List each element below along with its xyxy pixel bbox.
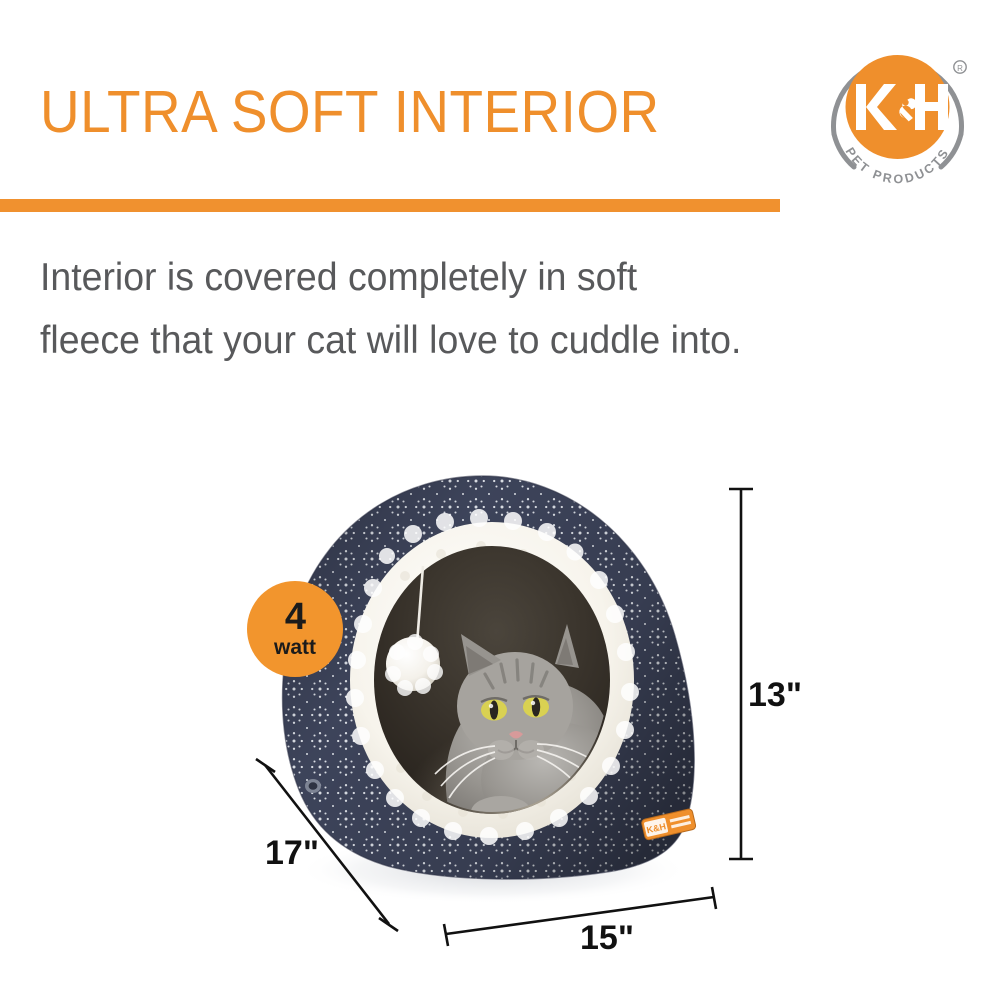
- page-title: ULTRA SOFT INTERIOR: [40, 78, 660, 146]
- height-dimension-label: 13": [748, 676, 802, 715]
- product-photo-cat-cave-bed: K&H: [255, 468, 725, 908]
- wattage-badge: 4 watt: [247, 581, 343, 677]
- body-copy-line-1: Interior is covered completely in soft: [40, 246, 904, 309]
- wattage-value: 4: [285, 599, 305, 635]
- kh-pet-products-logo: PET PRODUCTS R: [820, 34, 975, 189]
- body-copy-line-2: fleece that your cat will love to cuddle…: [40, 309, 904, 372]
- product-marketing-image: ULTRA SOFT INTERIOR Interior is covered …: [0, 0, 1000, 1000]
- width-dimension-label: 15": [580, 919, 634, 958]
- divider: [0, 199, 780, 212]
- depth-dimension-label: 17": [265, 834, 319, 873]
- wattage-unit: watt: [274, 637, 316, 659]
- svg-text:R: R: [957, 64, 963, 73]
- power-cord-grommet: [305, 779, 321, 793]
- registered-trademark-icon: R: [954, 61, 966, 73]
- body-copy: Interior is covered completely in soft f…: [40, 246, 904, 372]
